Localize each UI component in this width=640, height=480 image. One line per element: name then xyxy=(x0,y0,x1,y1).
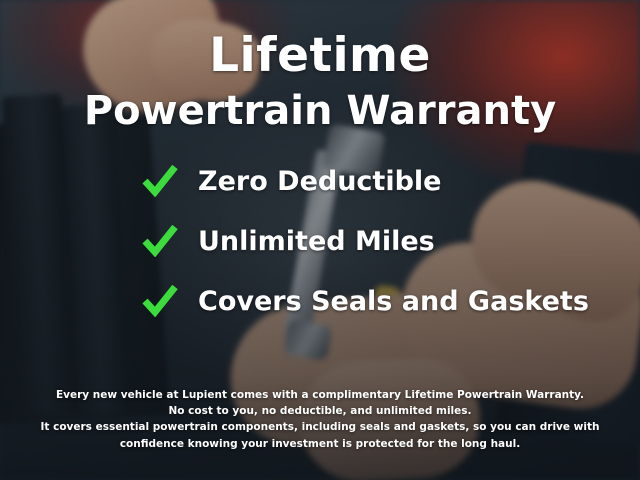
disclaimer-paragraph: Every new vehicle at Lupient comes with … xyxy=(0,387,640,452)
feature-label: Unlimited Miles xyxy=(198,226,435,257)
headline-primary: Lifetime xyxy=(209,32,431,79)
headline-secondary: Powertrain Warranty xyxy=(84,91,556,131)
check-icon xyxy=(142,225,178,257)
disclaimer-line: It covers essential powertrain component… xyxy=(34,419,606,435)
disclaimer-line: confidence knowing your investment is pr… xyxy=(34,436,606,452)
feature-list: Zero Deductible Unlimited Miles Covers S… xyxy=(0,165,640,317)
feature-item: Unlimited Miles xyxy=(70,225,570,257)
banner-content: Lifetime Powertrain Warranty Zero Deduct… xyxy=(0,0,640,480)
disclaimer-line: No cost to you, no deductible, and unlim… xyxy=(34,403,606,419)
check-icon xyxy=(142,285,178,317)
disclaimer-line: Every new vehicle at Lupient comes with … xyxy=(34,387,606,403)
warranty-promo-banner: Lifetime Powertrain Warranty Zero Deduct… xyxy=(0,0,640,480)
feature-label: Zero Deductible xyxy=(198,166,442,197)
feature-item: Covers Seals and Gaskets xyxy=(70,285,570,317)
check-icon xyxy=(142,165,178,197)
feature-item: Zero Deductible xyxy=(70,165,570,197)
feature-label: Covers Seals and Gaskets xyxy=(198,286,589,317)
